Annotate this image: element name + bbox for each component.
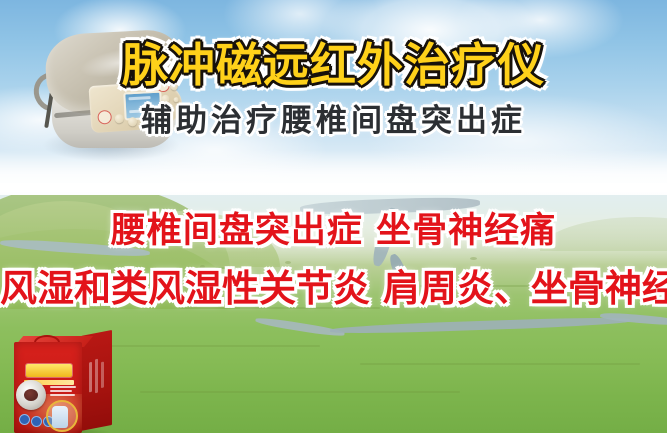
grass-streak xyxy=(360,363,640,365)
mode-button xyxy=(161,95,170,104)
box-device-photo-inner xyxy=(24,389,38,401)
box-feature-text xyxy=(50,394,75,396)
product-box-image xyxy=(14,336,112,433)
box-feature-text xyxy=(50,386,76,388)
box-feature-text xyxy=(50,390,72,392)
box-side-text xyxy=(89,362,92,393)
grass-streak xyxy=(140,391,460,393)
advertisement-banner: 脉冲磁远红外治疗仪 辅助治疗腰椎间盘突出症 腰椎间盘突出症 坐骨神经痛 风湿和类… xyxy=(0,0,667,433)
box-side-text xyxy=(95,359,98,394)
page-title: 脉冲磁远红外治疗仪 xyxy=(0,42,667,88)
river-segment xyxy=(600,312,667,327)
river-segment xyxy=(255,316,345,338)
lcd-row xyxy=(128,96,150,100)
river-segment xyxy=(330,316,630,335)
indication-line-1: 腰椎间盘突出症 坐骨神经痛 xyxy=(0,214,667,249)
grass-speck xyxy=(470,257,477,260)
box-icon-badge xyxy=(31,416,42,427)
box-front-panel xyxy=(14,342,82,433)
grass-speck xyxy=(285,261,291,264)
indication-line-2: 风湿和类风湿性关节炎 肩周炎、坐骨神经痛 xyxy=(0,270,667,307)
box-device-photo xyxy=(16,380,46,410)
box-product-illustration xyxy=(52,406,68,428)
box-icon-badge xyxy=(19,414,30,425)
mode-button xyxy=(173,97,178,102)
box-side-panel xyxy=(81,330,112,431)
box-brand-logo xyxy=(26,364,72,377)
page-subtitle: 辅助治疗腰椎间盘突出症 xyxy=(0,106,667,137)
box-side-text xyxy=(101,362,104,389)
